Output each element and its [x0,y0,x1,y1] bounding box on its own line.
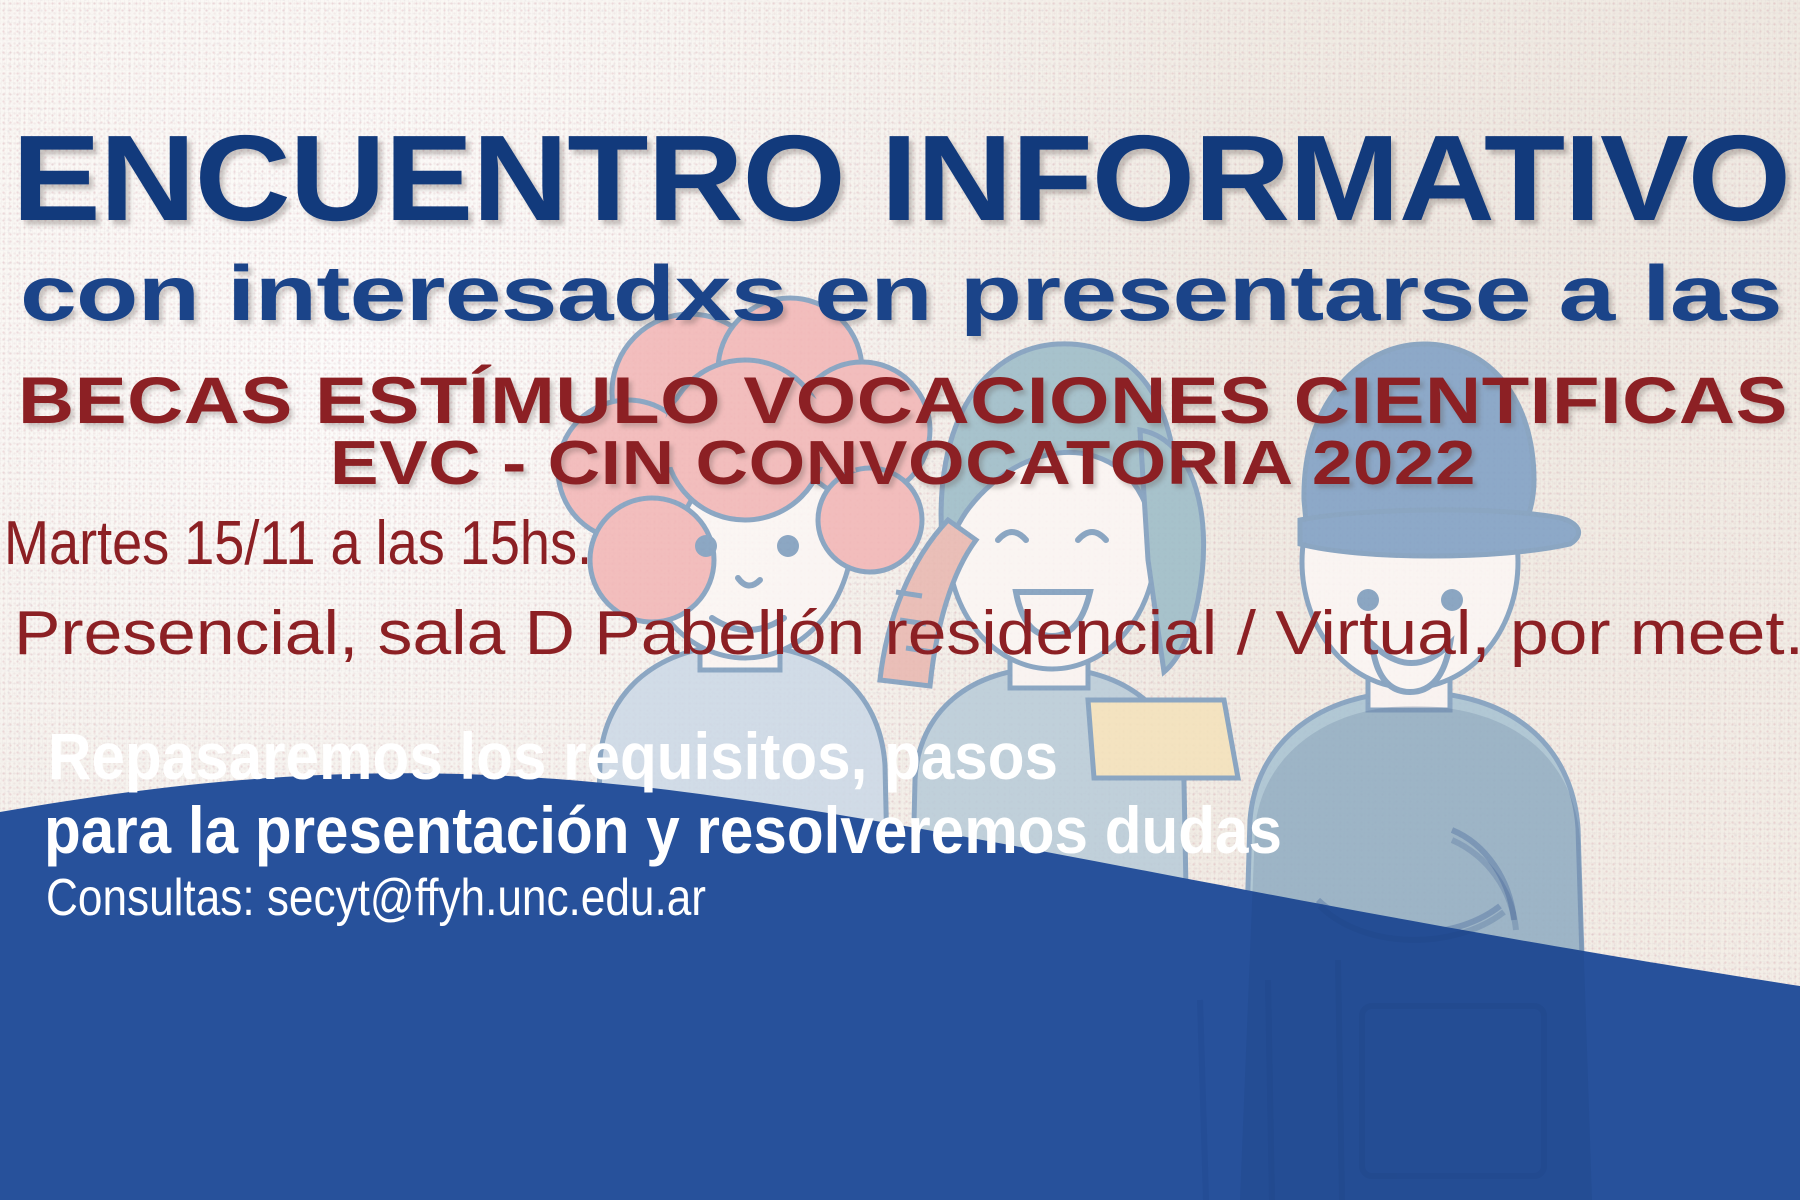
footer-line1: Repasaremos los requisitos, pasos [48,718,1058,794]
headline-line1: ENCUENTRO INFORMATIVO [12,108,1790,248]
headline-line2: con interesadxs en presentarse a las [20,248,1782,339]
program-title: BECAS ESTÍMULO VOCACIONES CIENTIFICAS [18,362,1788,438]
event-location: Presencial, sala D Pabellón residencial … [14,598,1800,669]
program-subtitle: EVC - CIN CONVOCATORIA 2022 [330,428,1476,499]
poster-canvas: ENCUENTRO INFORMATIVO con interesadxs en… [0,0,1800,1200]
event-datetime: Martes 15/11 a las 15hs. [4,508,592,579]
footer-line2: para la presentación y resolveremos duda… [44,792,1282,868]
contact-email[interactable]: Consultas: secyt@ffyh.unc.edu.ar [46,868,706,928]
